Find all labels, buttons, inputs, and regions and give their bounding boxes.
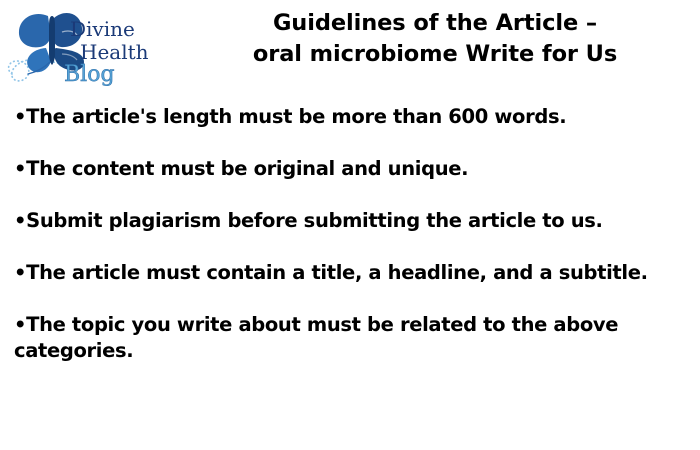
list-item-text: The article's length must be more than 6…: [26, 105, 566, 128]
list-item-text: The article must contain a title, a head…: [26, 261, 648, 284]
bullet-icon: •: [14, 313, 26, 336]
list-item: •The article must contain a title, a hea…: [14, 260, 682, 286]
brand-logo[interactable]: Divine Health Blog: [4, 2, 156, 90]
list-item-text: The content must be original and unique.: [26, 157, 468, 180]
logo-word-divine: Divine: [70, 17, 135, 41]
page-title: Guidelines of the Article – oral microbi…: [180, 8, 690, 70]
list-item: •Submit plagiarism before submitting the…: [14, 208, 682, 234]
list-item-text: Submit plagiarism before submitting the …: [26, 209, 602, 232]
guidelines-list: •The article's length must be more than …: [14, 104, 682, 364]
bullet-icon: •: [14, 209, 26, 232]
slide-page: Divine Health Blog Guidelines of the Art…: [0, 0, 700, 450]
logo-word-blog: Blog: [64, 62, 115, 87]
page-title-line-1: Guidelines of the Article –: [180, 8, 690, 39]
list-item: •The content must be original and unique…: [14, 156, 682, 182]
logo-word-health: Health: [80, 40, 149, 64]
list-item: •The article's length must be more than …: [14, 104, 682, 130]
bullet-icon: •: [14, 105, 26, 128]
list-item: •The topic you write about must be relat…: [14, 312, 682, 364]
list-item-text: The topic you write about must be relate…: [14, 313, 618, 362]
page-title-line-2: oral microbiome Write for Us: [180, 39, 690, 70]
logo-wordmark: Divine Health Blog: [64, 17, 149, 87]
bullet-icon: •: [14, 261, 26, 284]
bullet-icon: •: [14, 157, 26, 180]
page-header: Divine Health Blog Guidelines of the Art…: [0, 0, 700, 95]
